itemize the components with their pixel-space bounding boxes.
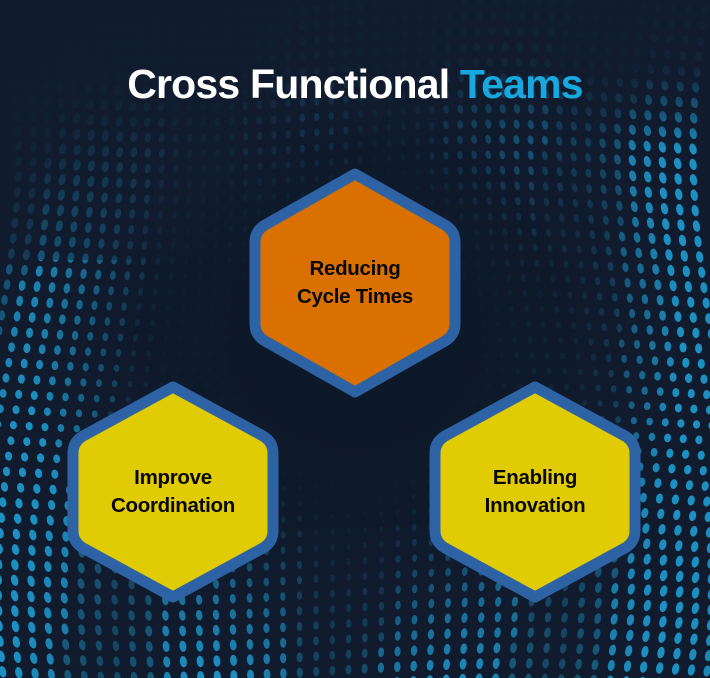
page-title-accent: Teams <box>460 61 583 107</box>
page-title: Cross Functional Teams <box>0 62 710 107</box>
hexagon-label: Reducing Cycle Times <box>281 255 429 312</box>
hexagon-improve-coordination[interactable]: Improve Coordination <box>61 381 285 603</box>
infographic-canvas: Cross Functional Teams Reducing Cycle Ti… <box>0 0 710 678</box>
page-title-main: Cross Functional <box>127 61 460 107</box>
hexagon-label: Improve Coordination <box>95 464 251 521</box>
hexagon-enabling-innovation[interactable]: Enabling Innovation <box>423 381 647 603</box>
hexagon-label: Enabling Innovation <box>469 464 602 521</box>
hexagon-reducing-cycle-times[interactable]: Reducing Cycle Times <box>243 168 467 398</box>
